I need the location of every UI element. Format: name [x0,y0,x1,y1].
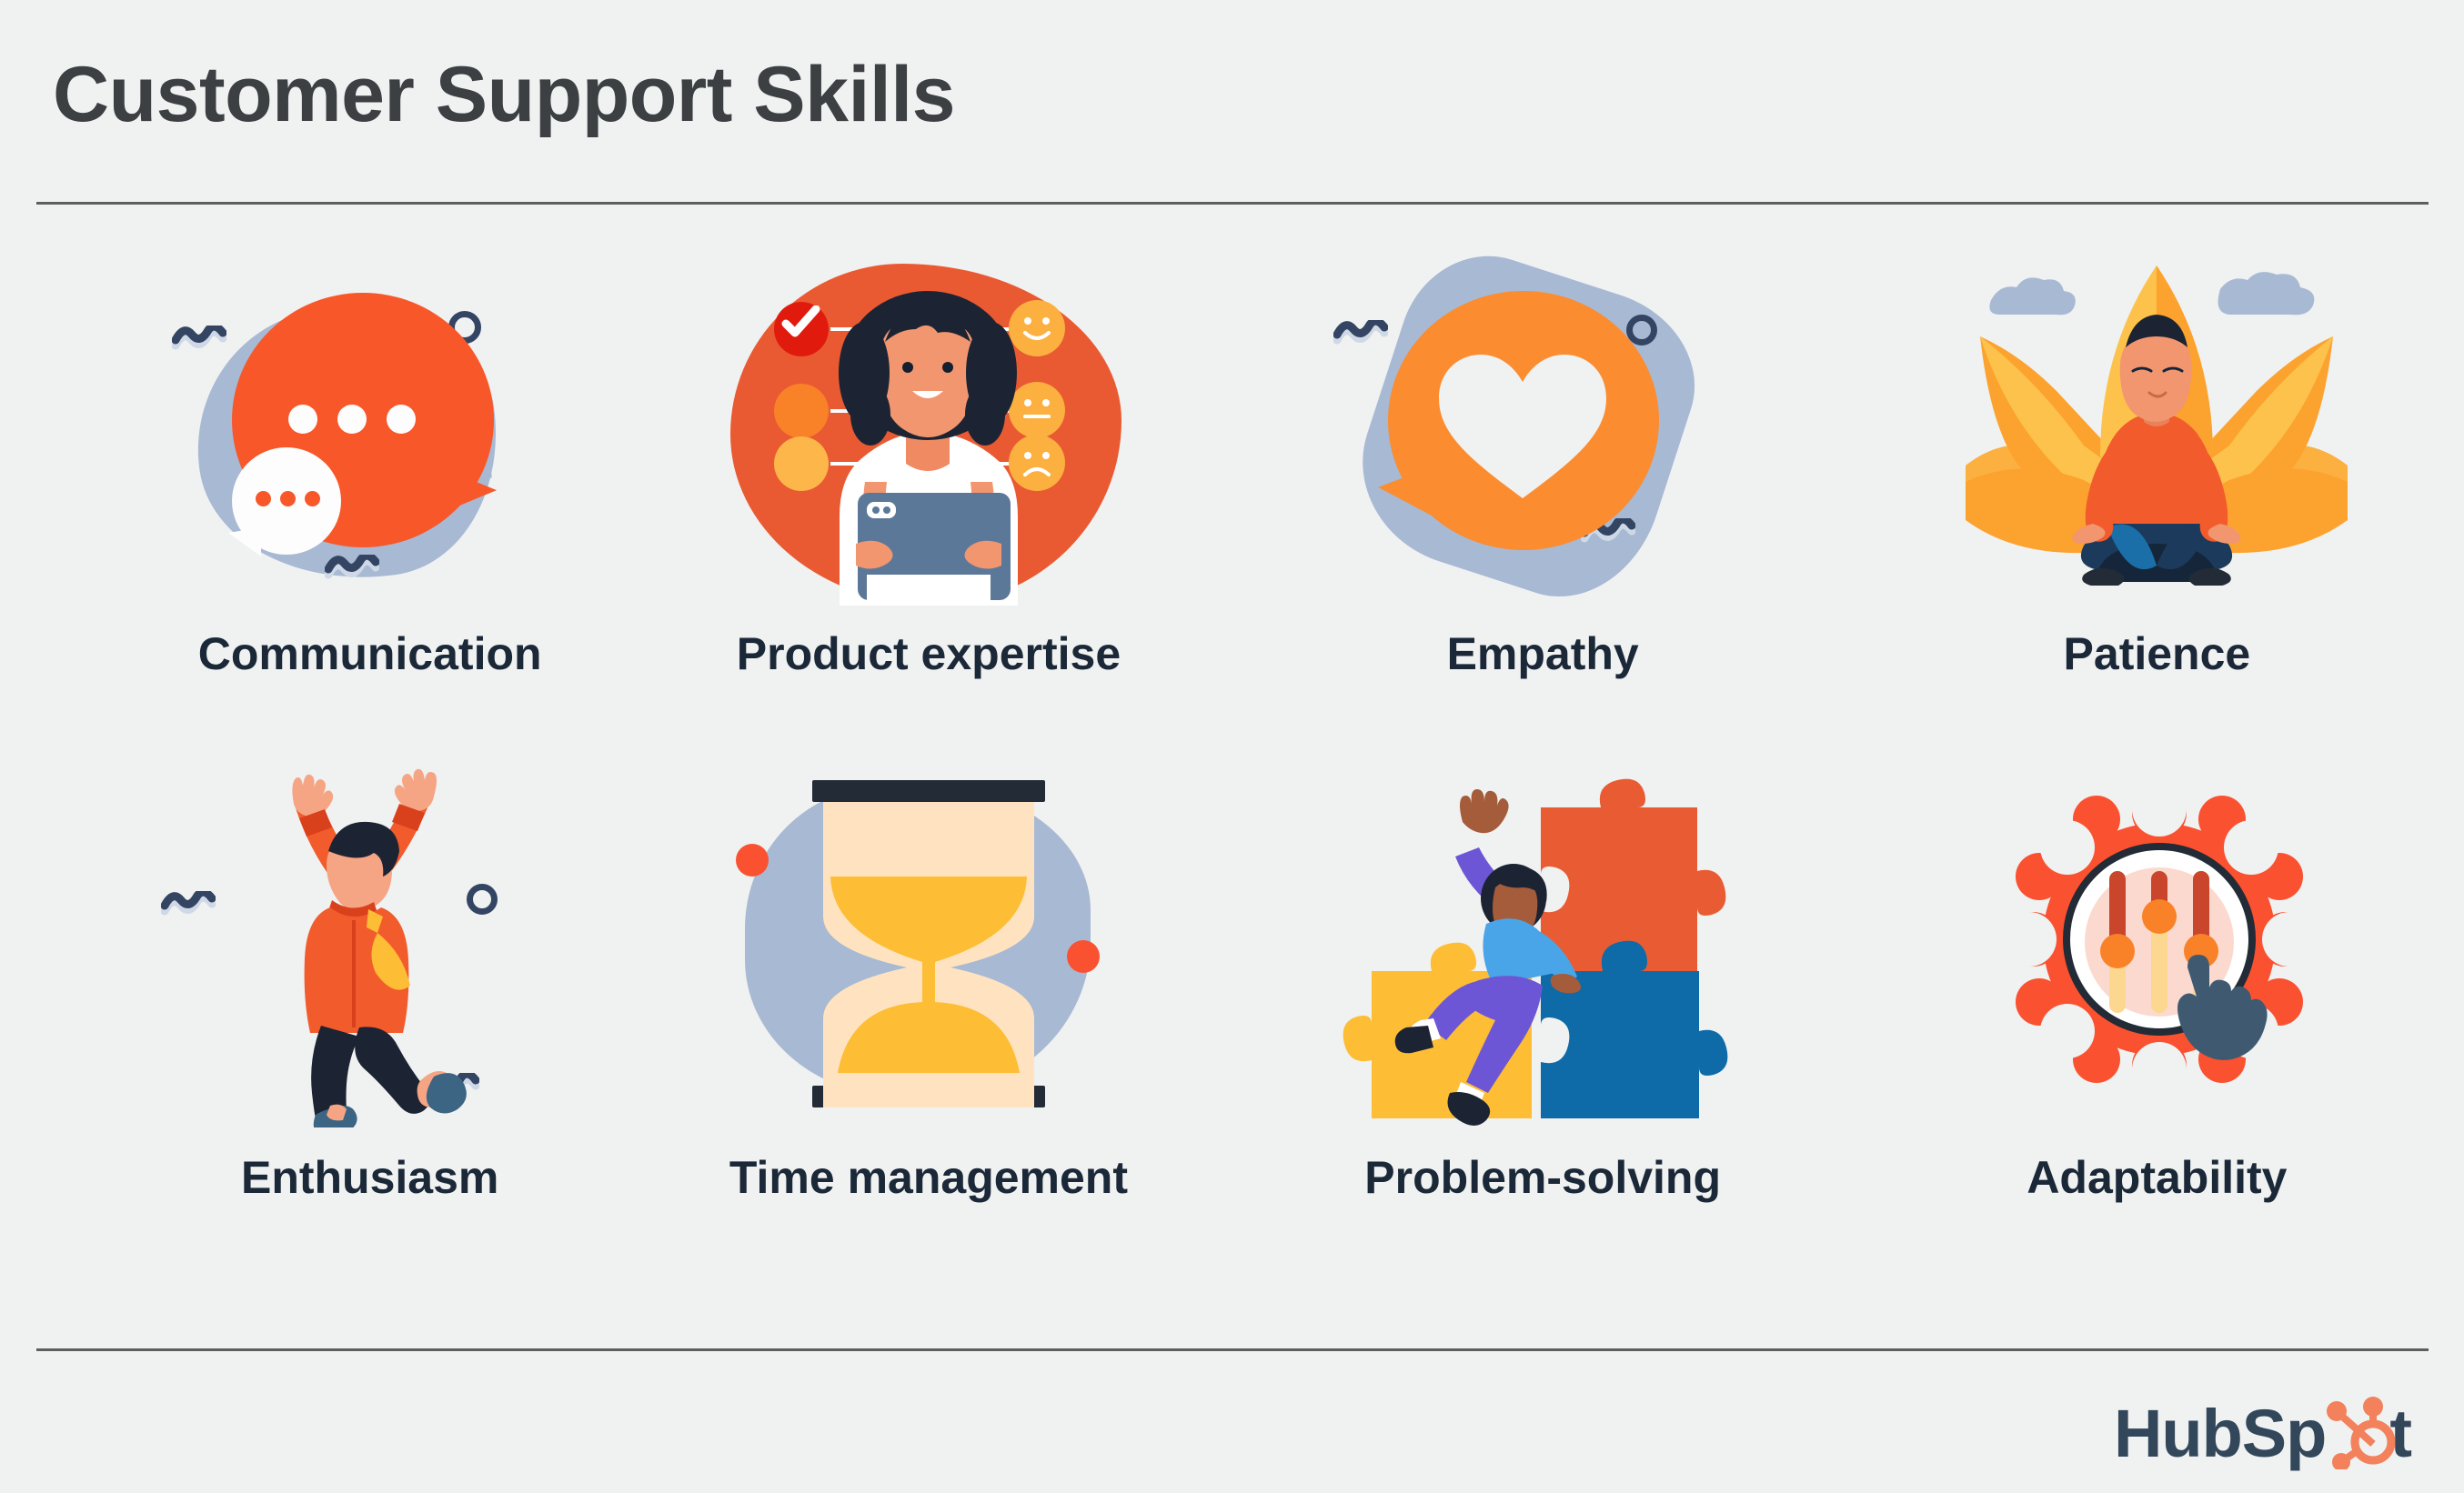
hubspot-wordmark: HubSp [2114,1395,2326,1472]
skill-label: Adaptability [2027,1151,2287,1204]
skill-card-product-expertise: Product expertise [621,255,1235,764]
skill-card-adaptability: Adaptability [1850,764,2464,1273]
squiggle-icon [1333,320,1388,351]
speech-bubbles-icon: + [161,255,579,618]
woman-illustration [719,255,1138,618]
hubspot-sprocket-icon [2317,1391,2395,1469]
footer-divider [36,1348,2429,1351]
skill-label: Product expertise [737,627,1121,680]
header-divider [36,202,2429,205]
skill-card-patience: Patience [1850,255,2464,764]
skills-row-1: + Communication [0,255,2464,764]
skills-row-2: Enthusiasm Time man [0,764,2464,1273]
gear-sliders-icon [1947,764,2366,1127]
gear-illustration [2009,789,2309,1089]
person-with-tablet-icon [719,255,1138,618]
person-illustration [161,764,579,1127]
skill-label: Communication [198,627,542,680]
large-bubble-dots [288,405,416,434]
accent-dot [736,844,769,877]
heart-speech-bubble-icon [1333,255,1752,618]
hourglass-illustration [810,780,1047,1107]
skill-card-enthusiasm: Enthusiasm [118,764,621,1273]
skill-card-empathy: Empathy [1236,255,1850,764]
meditating-person-icon [1947,255,2366,618]
skill-card-problem-solving: Problem-solving [1236,764,1850,1273]
hubspot-logo: HubSp t [2114,1391,2411,1475]
heart-icon [1432,346,1614,509]
skills-grid: + Communication [0,255,2464,1273]
puzzle-illustration [1333,764,1752,1127]
skill-label: Empathy [1447,627,1639,680]
lotus-illustration [1947,255,2366,618]
hubspot-wordmark-tail: t [2389,1395,2411,1472]
skill-label: Patience [2064,627,2251,680]
infographic-page: Customer Support Skills + [0,0,2464,1493]
skill-label: Time management [729,1151,1128,1204]
skill-card-time-management: Time management [621,764,1235,1273]
small-bubble-dots [256,491,320,506]
accent-dot [1067,940,1100,973]
squiggle-icon [172,326,226,356]
page-title: Customer Support Skills [53,53,955,137]
skill-label: Problem-solving [1364,1151,1721,1204]
hourglass-icon [719,764,1138,1127]
puzzle-pieces-icon [1333,764,1752,1127]
jumping-person-icon [161,764,579,1127]
skill-label: Enthusiasm [241,1151,498,1204]
small-bubble-tail [228,527,261,556]
squiggle-icon [325,555,379,586]
skill-card-communication: + Communication [118,255,621,764]
